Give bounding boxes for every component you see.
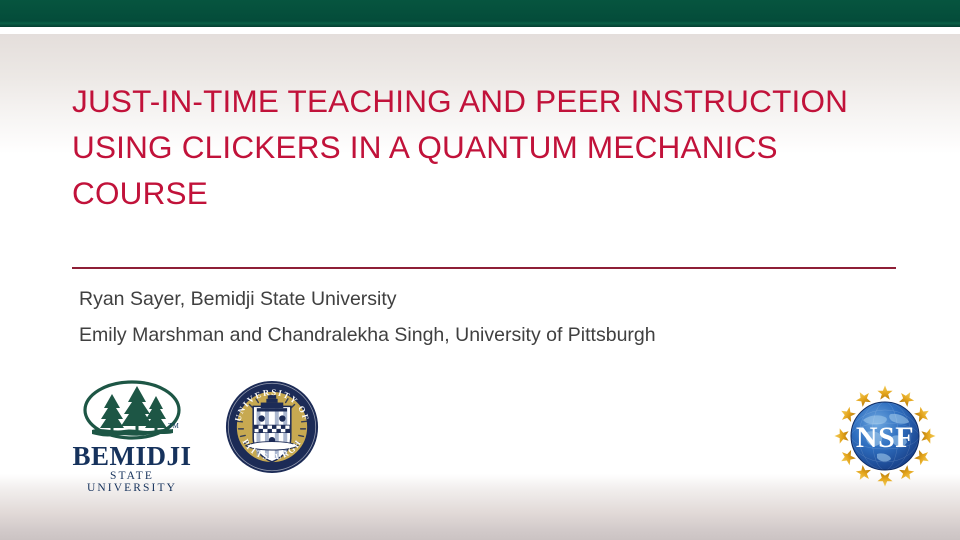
nsf-wordmark-text: NSF	[856, 421, 914, 454]
slide-title: JUST-IN-TIME TEACHING AND PEER INSTRUCTI…	[72, 78, 900, 216]
bemidji-pine-trees-icon	[82, 380, 182, 440]
author-line-2: Emily Marshman and Chandralekha Singh, U…	[79, 317, 899, 353]
author-list: Ryan Sayer, Bemidji State University Emi…	[79, 281, 899, 353]
university-of-pittsburgh-seal: UNIVERSITY OF PITTSBURGH	[225, 380, 319, 474]
logo-row: TM BEMIDJI STATE UNIVERSITY	[0, 372, 960, 497]
top-white-gap	[0, 27, 960, 34]
title-slide: JUST-IN-TIME TEACHING AND PEER INSTRUCTI…	[0, 0, 960, 540]
bemidji-trademark-symbol: TM	[168, 422, 179, 430]
title-divider-rule	[72, 267, 896, 269]
nsf-logo: NSF	[833, 384, 937, 488]
bemidji-subtext: STATE UNIVERSITY	[68, 470, 196, 494]
bemidji-state-university-logo: TM BEMIDJI STATE UNIVERSITY	[68, 380, 196, 492]
bemidji-wordmark: BEMIDJI	[68, 442, 196, 470]
author-line-1: Ryan Sayer, Bemidji State University	[79, 281, 899, 317]
top-accent-bar	[0, 0, 960, 27]
